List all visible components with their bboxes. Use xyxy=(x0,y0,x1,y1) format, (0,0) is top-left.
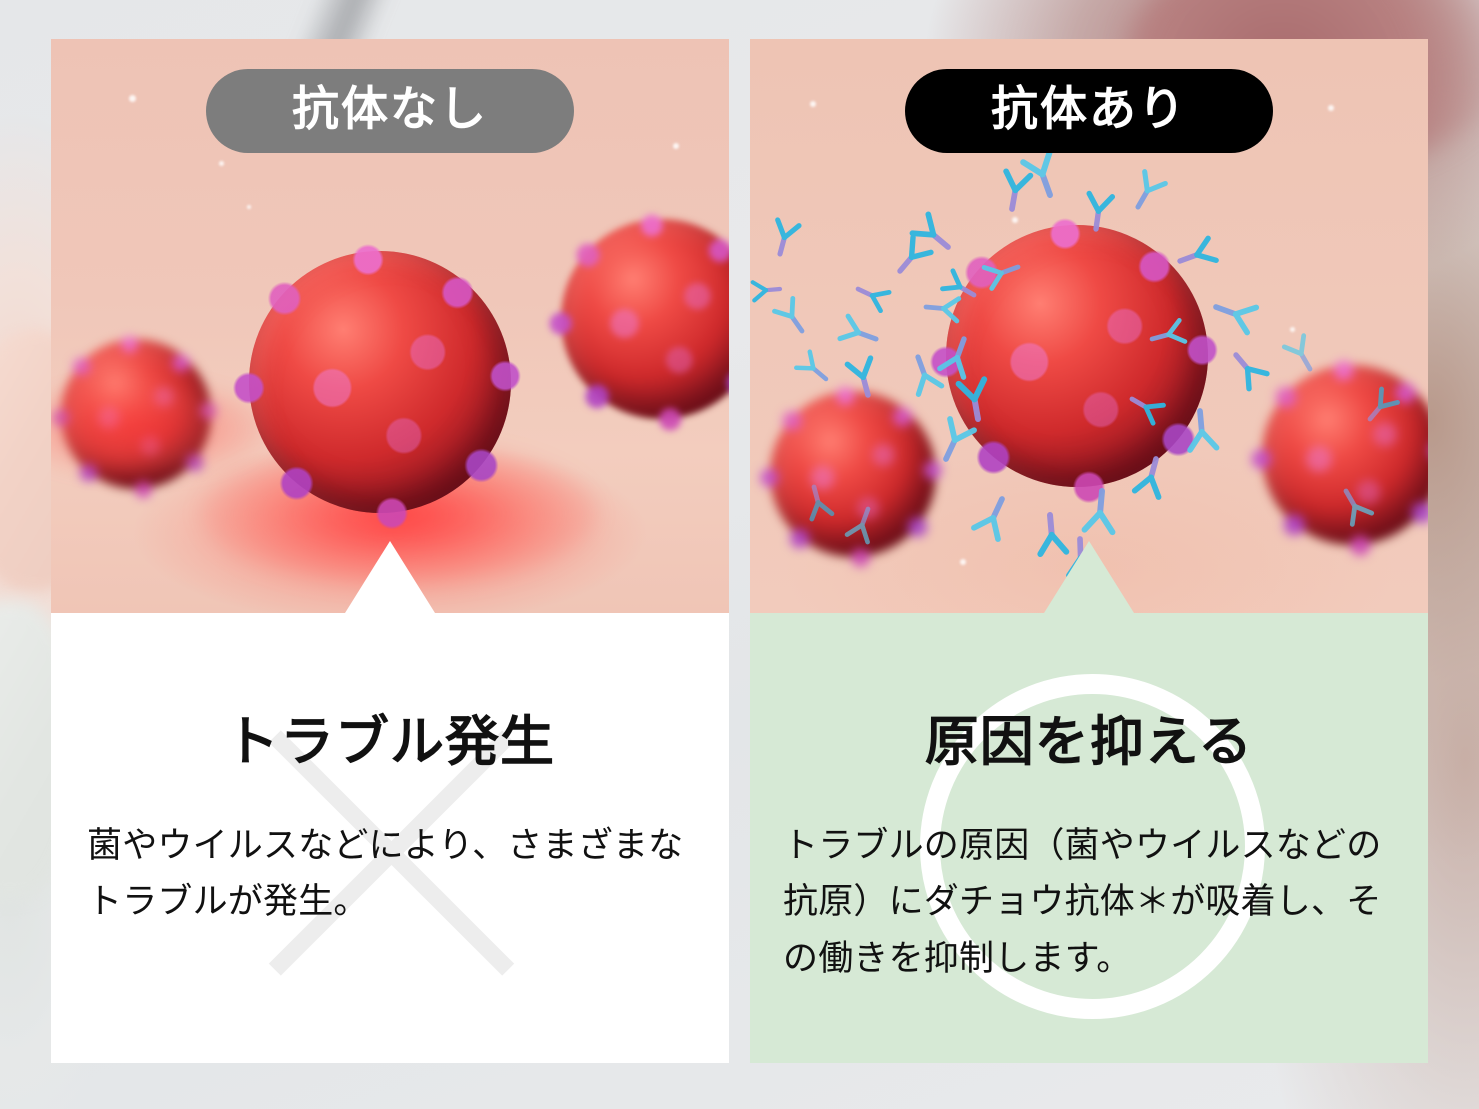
sparkle-dot xyxy=(810,101,816,107)
virus-particle-right xyxy=(561,219,729,419)
virus-particle-left xyxy=(770,391,936,557)
paragraph-without-antibody: 菌やウイルスなどにより、さまざまなトラブルが発生。 xyxy=(51,818,729,931)
card-without-antibody: 抗体なし トラブル発生 菌やウイルスなどにより、さまざまなトラブルが発生。 xyxy=(51,39,729,1063)
comparison-layout: 抗体なし トラブル発生 菌やウイルスなどにより、さまざまなトラブルが発生。 xyxy=(0,0,1479,1109)
heading-with-antibody: 原因を抑える xyxy=(750,658,1428,773)
virus-particle-right xyxy=(1262,365,1428,545)
sparkle-dot xyxy=(247,205,251,209)
sparkle-dot xyxy=(219,161,224,166)
sparkle-dot xyxy=(129,95,136,102)
card-with-antibody: 抗体あり 原因を抑える トラブルの原因（菌やウイルスなどの抗原）にダチョウ抗体＊… xyxy=(750,39,1428,1063)
illustration-with-antibody: 抗体あり xyxy=(750,39,1428,613)
virus-particle-main xyxy=(249,251,511,513)
sparkle-dot xyxy=(1290,327,1295,332)
text-block-with-antibody: 原因を抑える トラブルの原因（菌やウイルスなどの抗原）にダチョウ抗体＊が吸着し、… xyxy=(750,658,1428,1063)
sparkle-dot xyxy=(1328,105,1334,111)
paragraph-with-antibody: トラブルの原因（菌やウイルスなどの抗原）にダチョウ抗体＊が吸着し、その働きを抑制… xyxy=(750,818,1428,988)
heading-without-antibody: トラブル発生 xyxy=(51,658,729,773)
sparkle-dot xyxy=(673,143,679,149)
notch-triangle-left xyxy=(345,541,435,613)
sparkle-dot xyxy=(960,559,966,565)
illustration-without-antibody: 抗体なし xyxy=(51,39,729,613)
badge-without-antibody: 抗体なし xyxy=(206,69,574,153)
badge-with-antibody: 抗体あり xyxy=(905,69,1273,153)
text-block-without-antibody: トラブル発生 菌やウイルスなどにより、さまざまなトラブルが発生。 xyxy=(51,658,729,1063)
virus-particle-main xyxy=(946,225,1208,487)
notch-triangle-right xyxy=(1044,541,1134,613)
